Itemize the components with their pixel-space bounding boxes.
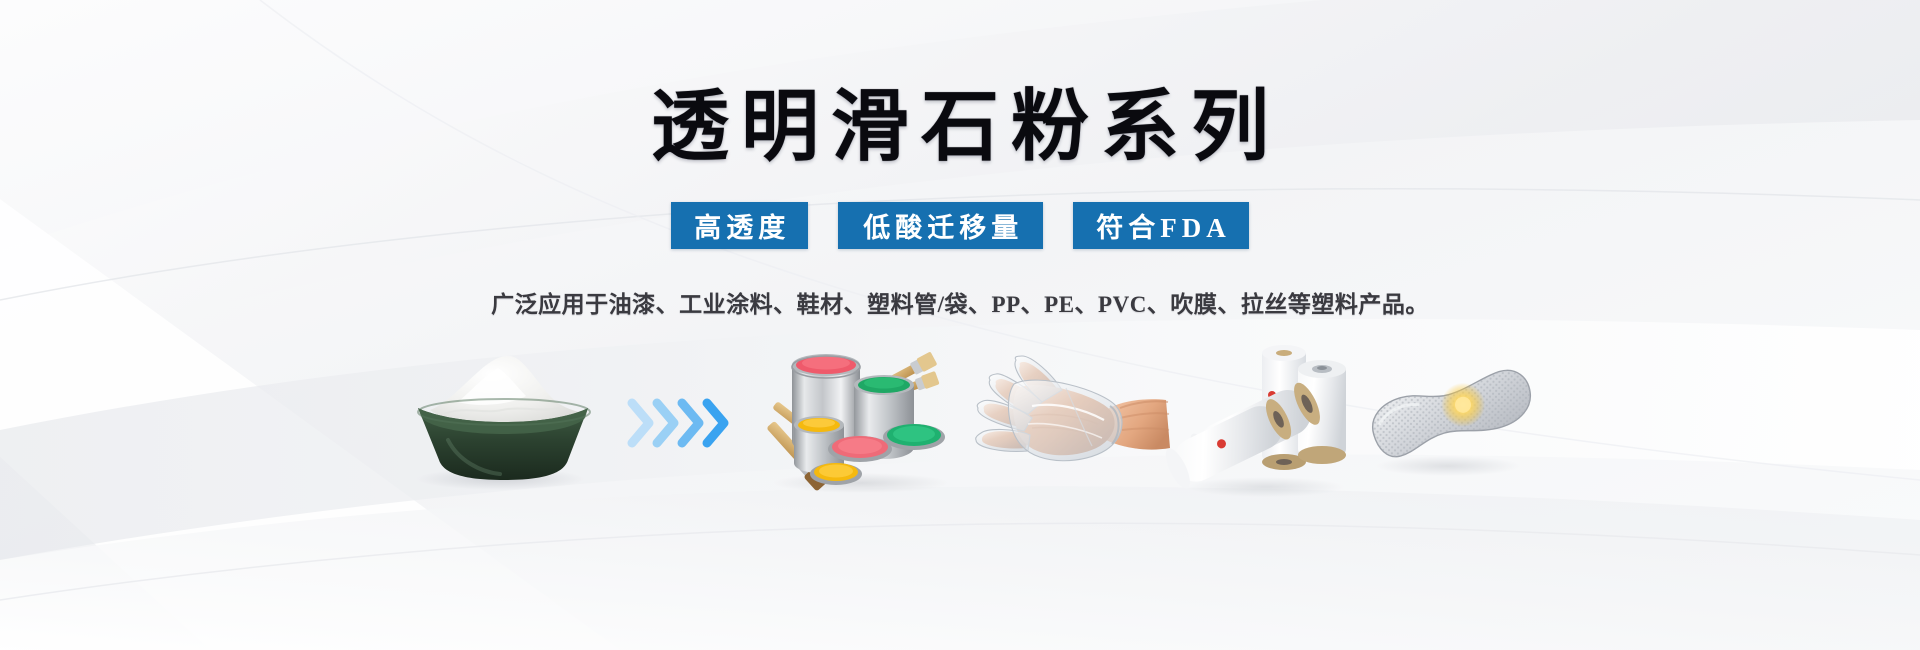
shoe-sole-image [1358,348,1533,498]
feature-badge-low-acid-migration[interactable]: 低酸迁移量 [838,202,1043,249]
feature-badge-group: 高透度 低酸迁移量 符合FDA [671,202,1249,249]
feature-badge-high-transparency[interactable]: 高透度 [671,202,808,249]
paint-cans-image [756,343,966,503]
film-rolls-image [1174,343,1354,503]
plastic-glove-image [970,348,1170,498]
product-banner: 透明滑石粉系列 高透度 低酸迁移量 符合FDA 广泛应用于油漆、工业涂料、鞋材、… [0,0,1920,650]
page-title: 透明滑石粉系列 [639,0,1281,168]
page-subtitle: 广泛应用于油漆、工业涂料、鞋材、塑料管/袋、PP、PE、PVC、吹膜、拉丝等塑料… [491,249,1429,319]
flow-arrows-icon [622,348,752,498]
product-application-strip [410,343,1510,503]
talc-powder-bowl-image [388,348,618,498]
feature-badge-fda-compliant[interactable]: 符合FDA [1073,202,1249,249]
